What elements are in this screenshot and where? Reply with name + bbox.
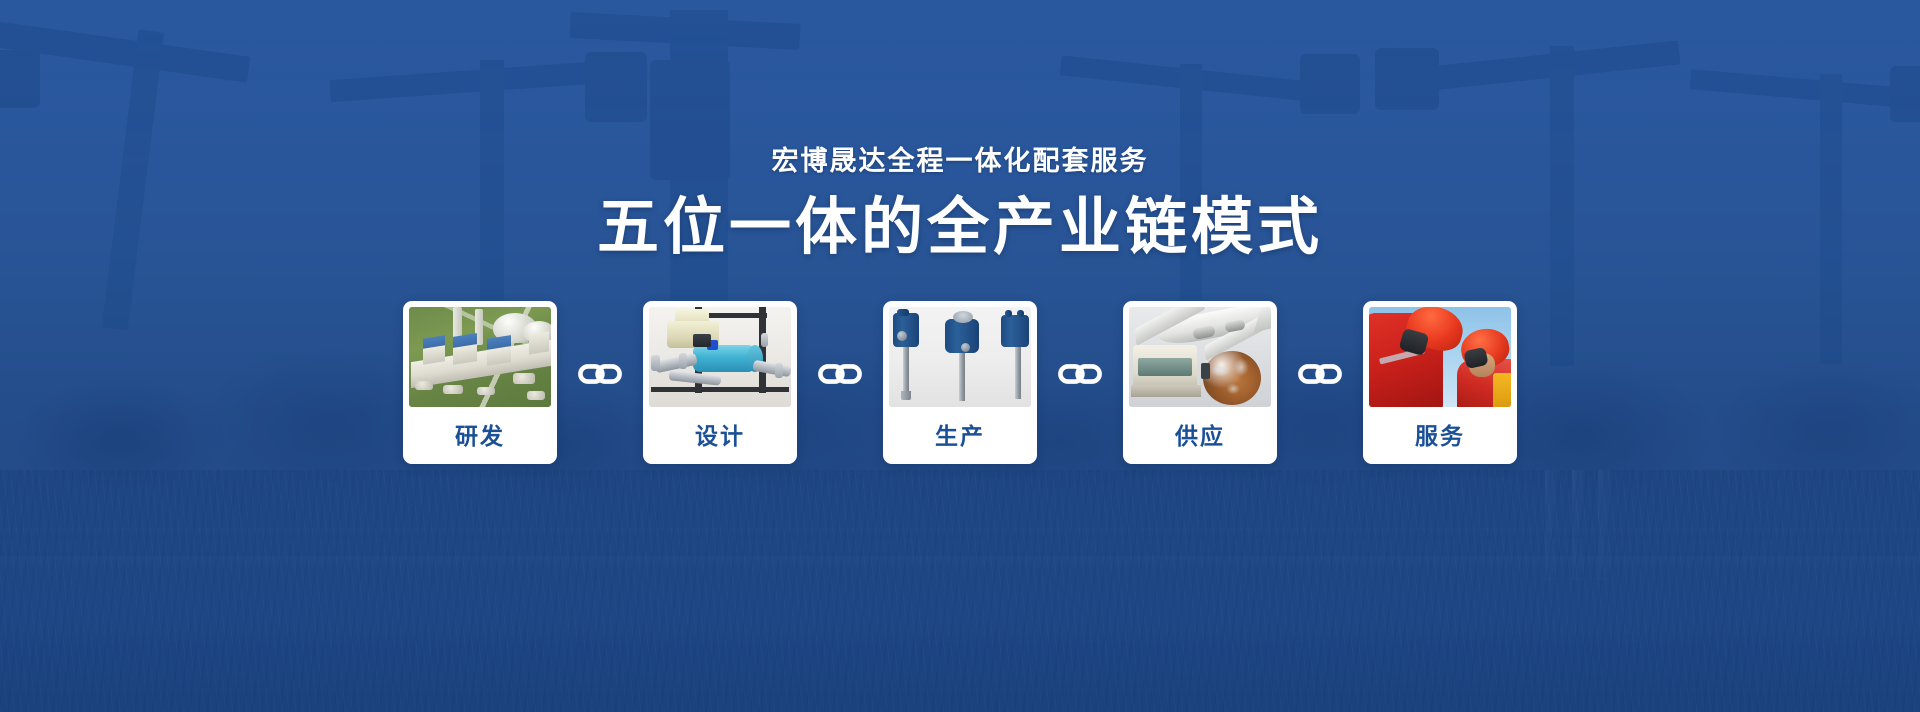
chain-card-design[interactable]: 设计 bbox=[643, 301, 797, 464]
chain-card-design-image bbox=[649, 307, 791, 407]
chain-card-service-label: 服务 bbox=[1369, 407, 1511, 464]
chain-card-production-image bbox=[889, 307, 1031, 407]
chain-card-supply-label: 供应 bbox=[1129, 407, 1271, 464]
chain-card-rd-label: 研发 bbox=[409, 407, 551, 464]
chain-card-service-image bbox=[1369, 307, 1511, 407]
chain-link-icon bbox=[797, 361, 883, 387]
banner-title: 五位一体的全产业链模式 bbox=[597, 197, 1323, 259]
chain-card-supply[interactable]: 供应 bbox=[1123, 301, 1277, 464]
chain-link-icon bbox=[1037, 361, 1123, 387]
chain-card-design-label: 设计 bbox=[649, 407, 791, 464]
value-chain-list: 研发 bbox=[403, 301, 1517, 464]
chain-card-supply-image bbox=[1129, 307, 1271, 407]
chain-card-production[interactable]: 生产 bbox=[883, 301, 1037, 464]
banner-subtitle: 宏博晟达全程一体化配套服务 bbox=[772, 148, 1149, 175]
chain-card-service[interactable]: 服务 bbox=[1363, 301, 1517, 464]
chain-card-production-label: 生产 bbox=[889, 407, 1031, 464]
promo-banner: 宏博晟达全程一体化配套服务 五位一体的全产业链模式 bbox=[0, 0, 1920, 712]
chain-card-rd-image bbox=[409, 307, 551, 407]
chain-card-rd[interactable]: 研发 bbox=[403, 301, 557, 464]
chain-link-icon bbox=[1277, 361, 1363, 387]
banner-content: 宏博晟达全程一体化配套服务 五位一体的全产业链模式 bbox=[0, 0, 1920, 712]
chain-link-icon bbox=[557, 361, 643, 387]
